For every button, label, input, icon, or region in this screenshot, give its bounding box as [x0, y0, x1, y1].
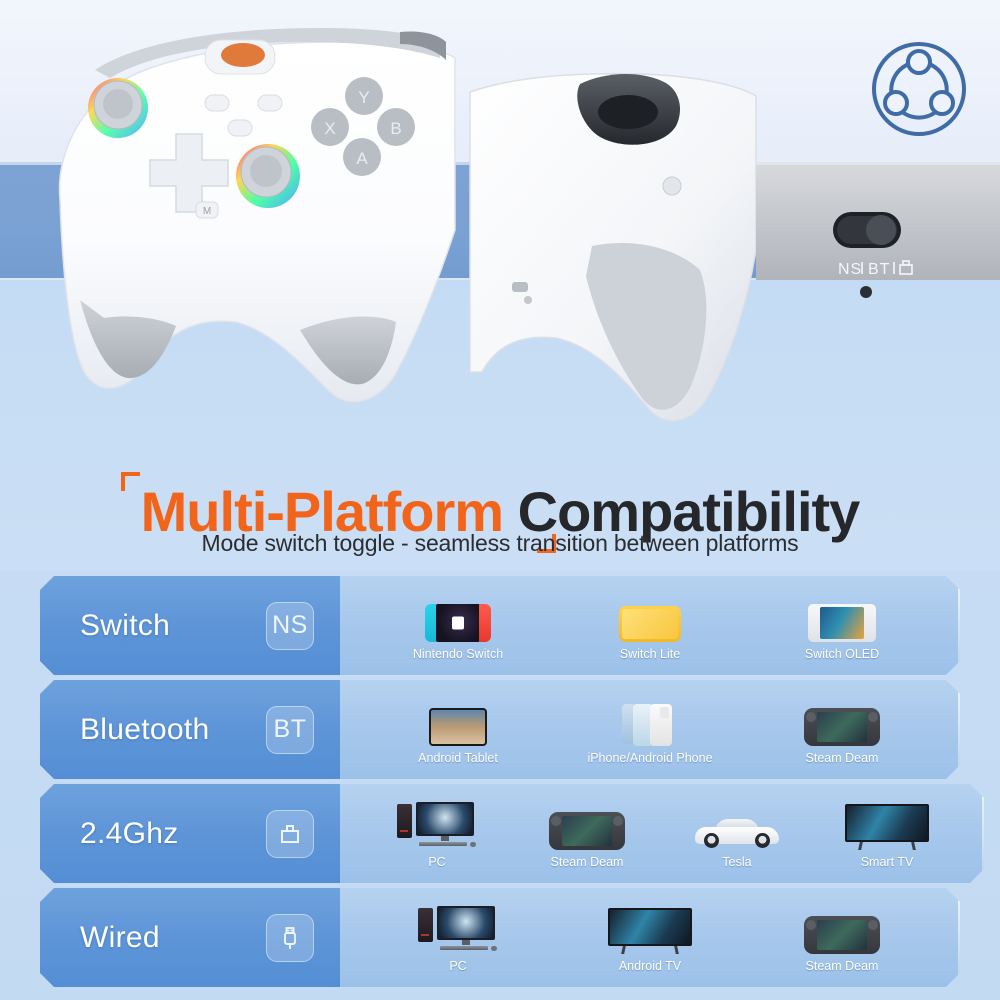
device-label: Android Tablet: [418, 751, 498, 765]
device-item[interactable]: Steam Deam: [767, 694, 917, 765]
row-label: Wired: [80, 921, 266, 955]
controller-back: [470, 74, 756, 421]
svg-text:A: A: [356, 149, 368, 168]
mode-badge-usb: [266, 914, 314, 962]
compatibility-table: Switch NS Nintendo Switch: [40, 576, 960, 992]
desktop-pc-icon: [397, 798, 477, 850]
device-label: Nintendo Switch: [413, 647, 503, 661]
bracket-top-left-icon: [121, 472, 140, 491]
controller-front: Y X B A M: [59, 28, 455, 402]
table-row: 2.4Ghz PC: [40, 784, 960, 883]
row-label-cell-switch[interactable]: Switch NS: [40, 576, 340, 675]
headline-block: Multi-Platform Compatibility: [0, 446, 1000, 577]
hero-product-photo: Y X B A M: [0, 0, 1000, 450]
row-label: Switch: [80, 609, 266, 643]
device-label: iPhone/Android Phone: [587, 751, 712, 765]
device-item[interactable]: Switch OLED: [767, 590, 917, 661]
table-row: Wired PC: [40, 888, 960, 987]
device-item[interactable]: Steam Deam: [767, 902, 917, 973]
row-devices-24ghz: PC Steam Deam Tesla: [340, 784, 984, 883]
usb-plug-icon: [277, 925, 303, 951]
row-label: 2.4Ghz: [80, 817, 266, 851]
device-item[interactable]: Tesla: [662, 798, 812, 869]
row-label: Bluetooth: [80, 713, 266, 747]
device-label: Switch OLED: [805, 647, 879, 661]
table-row: Switch NS Nintendo Switch: [40, 576, 960, 675]
svg-text:Y: Y: [358, 88, 369, 107]
steam-deck-icon: [549, 798, 625, 850]
toggle-detail-panel: NS BT: [756, 162, 1000, 298]
svg-text:NS: NS: [838, 261, 862, 278]
mode-badge-ns: NS: [266, 602, 314, 650]
switch-lite-icon: [619, 590, 681, 642]
android-tablet-icon: [429, 694, 487, 746]
device-label: PC: [449, 959, 466, 973]
poster-root: Y X B A M: [0, 0, 1000, 1000]
smartphone-group-icon: [622, 694, 678, 746]
device-label: Steam Deam: [551, 855, 624, 869]
steam-deck-icon: [804, 694, 880, 746]
device-item[interactable]: Smart TV: [812, 798, 962, 869]
row-devices-bluetooth: Android Tablet iPhone/Android Phone Stea…: [340, 680, 960, 779]
row-label-cell-bluetooth[interactable]: Bluetooth BT: [40, 680, 340, 779]
svg-text:B: B: [390, 119, 401, 138]
device-item[interactable]: iPhone/Android Phone: [575, 694, 725, 765]
device-item[interactable]: PC: [383, 902, 533, 973]
svg-text:X: X: [324, 119, 335, 138]
tesla-car-icon: [695, 798, 779, 850]
badge-text: NS: [272, 611, 308, 640]
table-row: Bluetooth BT Android Tablet: [40, 680, 960, 779]
svg-text:M: M: [203, 206, 211, 217]
nintendo-switch-icon: [425, 590, 491, 642]
device-item[interactable]: Nintendo Switch: [383, 590, 533, 661]
device-label: Steam Deam: [806, 751, 879, 765]
mode-badge-bt: BT: [266, 706, 314, 754]
device-label: Switch Lite: [620, 647, 680, 661]
desktop-pc-icon: [418, 902, 498, 954]
device-label: Android TV: [619, 959, 681, 973]
page-subtitle: Mode switch toggle - seamless transition…: [0, 530, 1000, 557]
device-item[interactable]: Steam Deam: [512, 798, 662, 869]
device-item[interactable]: Android TV: [575, 902, 725, 973]
dongle-icon: [278, 822, 302, 846]
steam-deck-icon: [804, 902, 880, 954]
row-label-cell-24ghz[interactable]: 2.4Ghz: [40, 784, 340, 883]
row-devices-wired: PC Android TV Steam Deam: [340, 888, 960, 987]
row-label-cell-wired[interactable]: Wired: [40, 888, 340, 987]
device-label: Smart TV: [861, 855, 914, 869]
row-devices-switch: Nintendo Switch Switch Lite Switch OLED: [340, 576, 960, 675]
device-label: Steam Deam: [806, 959, 879, 973]
android-tv-icon: [608, 902, 692, 954]
badge-text: BT: [274, 715, 307, 744]
device-item[interactable]: PC: [362, 798, 512, 869]
mode-badge-dongle: [266, 810, 314, 858]
device-label: PC: [428, 855, 445, 869]
device-item[interactable]: Android Tablet: [383, 694, 533, 765]
device-item[interactable]: Switch Lite: [575, 590, 725, 661]
device-label: Tesla: [722, 855, 751, 869]
switch-oled-icon: [808, 590, 876, 642]
svg-text:BT: BT: [868, 261, 890, 278]
smart-tv-icon: [845, 798, 929, 850]
